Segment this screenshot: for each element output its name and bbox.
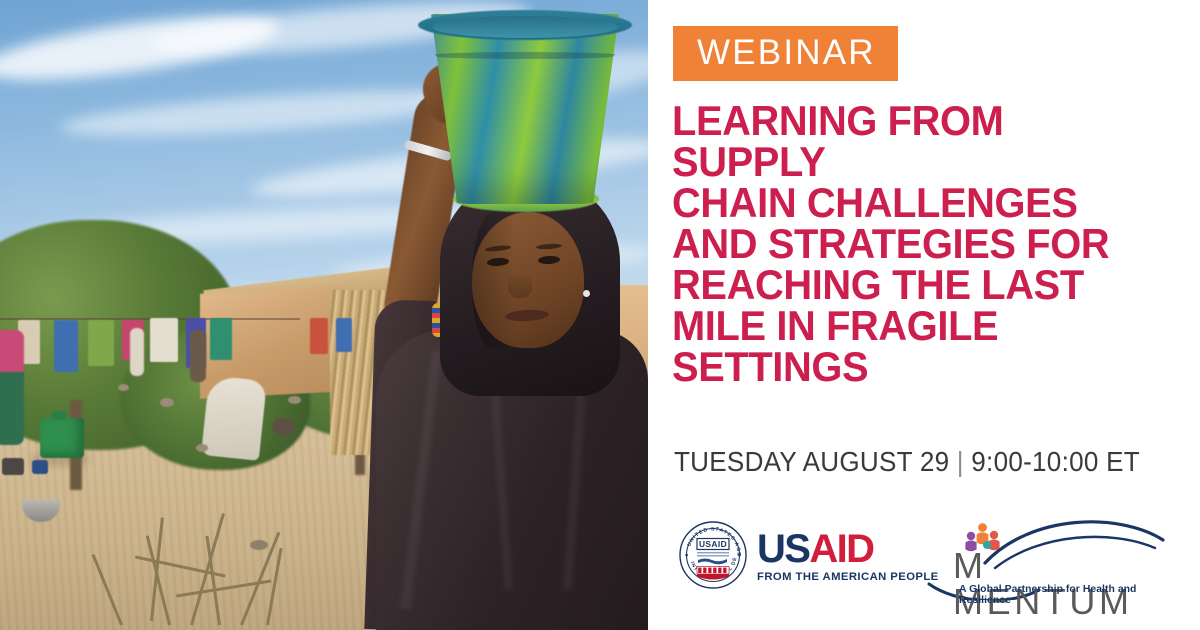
schedule-date: TUESDAY AUGUST 29	[674, 446, 949, 477]
usaid-tagline: FROM THE AMERICAN PEOPLE	[757, 571, 939, 583]
rock	[160, 398, 174, 407]
hanging-cloth	[310, 318, 328, 354]
title-line: REACHING THE LAST	[672, 264, 1162, 305]
svg-text:USAID: USAID	[699, 539, 727, 549]
usaid-wordmark-text: USAID	[757, 532, 939, 567]
cooking-pot	[2, 458, 24, 475]
nose	[508, 272, 532, 298]
blue-cup	[32, 460, 48, 474]
momentum-word-m: M	[953, 545, 987, 586]
schedule-separator: |	[949, 446, 971, 477]
hanging-cloth	[210, 318, 232, 360]
webinar-badge: WEBINAR	[673, 26, 898, 81]
page-title: LEARNING FROM SUPPLY CHAIN CHALLENGES AN…	[672, 100, 1162, 388]
person-background	[0, 330, 24, 445]
title-line: MILE IN FRAGILE	[672, 305, 1162, 346]
content-panel: WEBINAR LEARNING FROM SUPPLY CHAIN CHALL…	[648, 0, 1200, 630]
schedule-time: 9:00-10:00 ET	[971, 446, 1140, 477]
water-basin	[425, 14, 625, 204]
hanging-cloth	[54, 320, 78, 372]
earring	[583, 290, 590, 297]
person-background	[190, 330, 206, 382]
title-line: LEARNING FROM SUPPLY	[672, 100, 1162, 182]
usaid-word-us: US	[757, 527, 809, 571]
webinar-badge-label: WEBINAR	[697, 33, 876, 72]
rock	[196, 444, 208, 452]
rock	[118, 384, 129, 391]
basin-band	[428, 52, 622, 59]
usaid-logo[interactable]: UNITED STATES AGENCY INTERNATIONAL DEVEL…	[678, 520, 939, 595]
hanging-cloth	[88, 320, 114, 366]
basin-opening	[432, 16, 618, 38]
webinar-promo-graphic: WEBINAR LEARNING FROM SUPPLY CHAIN CHALL…	[0, 0, 1200, 630]
momentum-tagline: A Global Partnership for Health and Resi…	[959, 584, 1178, 606]
bird	[272, 418, 294, 435]
hanging-cloth	[150, 318, 178, 362]
usaid-wordmark: USAID FROM THE AMERICAN PEOPLE	[757, 532, 939, 582]
title-line: SETTINGS	[672, 346, 1162, 387]
momentum-logo[interactable]: MMENTUM A Global Partnership for Health …	[923, 518, 1178, 600]
schedule-line: TUESDAY AUGUST 29|9:00-10:00 ET	[674, 446, 1140, 478]
green-jerrycan	[40, 418, 84, 458]
usaid-word-aid: AID	[809, 527, 873, 571]
rock	[288, 396, 301, 404]
jerrycan-cap	[52, 411, 66, 420]
logo-row: UNITED STATES AGENCY INTERNATIONAL DEVEL…	[678, 518, 1178, 602]
title-line: AND STRATEGIES FOR	[672, 223, 1162, 264]
dry-shrub	[90, 505, 340, 625]
usaid-seal-icon: UNITED STATES AGENCY INTERNATIONAL DEVEL…	[678, 520, 748, 595]
person-background	[130, 328, 144, 376]
hanging-cloth	[336, 318, 352, 352]
title-line: CHAIN CHALLENGES	[672, 182, 1162, 223]
hero-photo	[0, 0, 648, 630]
